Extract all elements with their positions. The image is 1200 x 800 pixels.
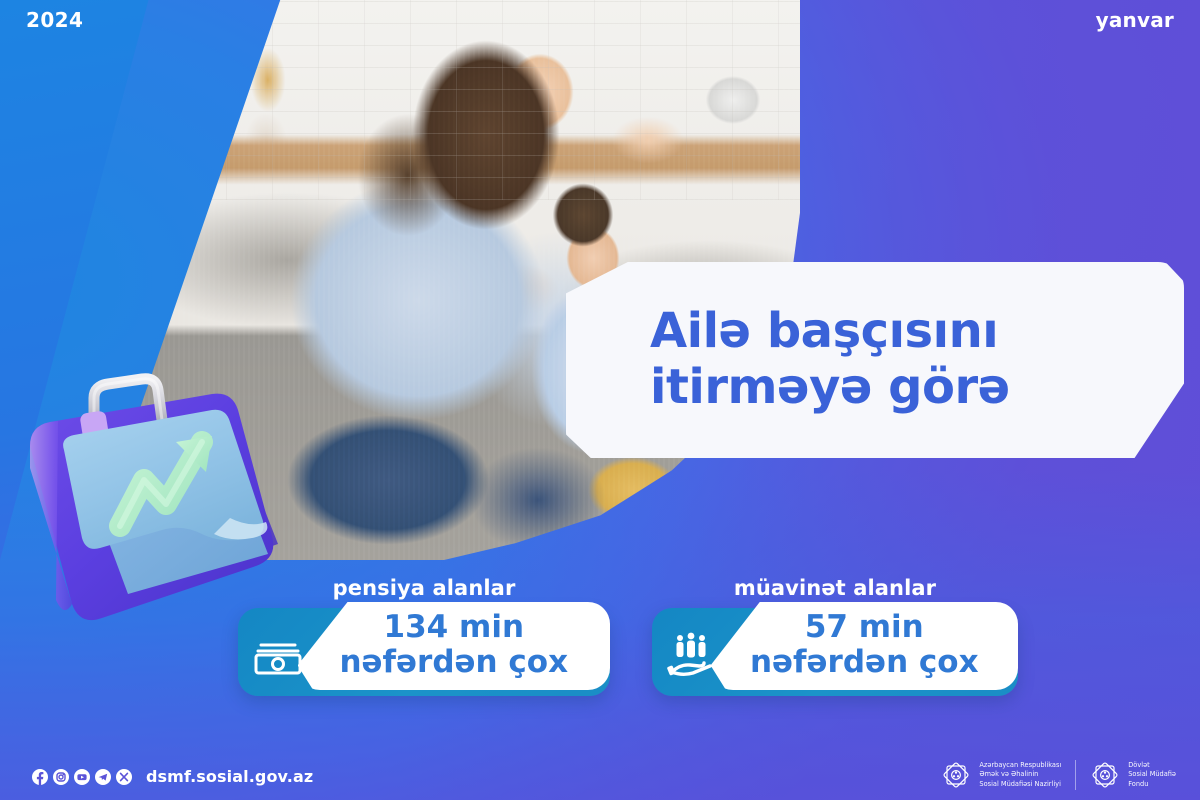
logo-divider bbox=[1075, 760, 1076, 790]
social-links: dsmf.sosial.gov.az bbox=[32, 767, 313, 786]
stat-value-panel: 57 min nəfərdən çox bbox=[711, 602, 1018, 690]
stat-value: 57 min bbox=[805, 612, 924, 643]
ministry-logo-text: Azərbaycan Respublikası Əmək və Əhalinin… bbox=[979, 761, 1061, 790]
hand-holding-family-icon bbox=[666, 630, 718, 678]
briefcase-growth-chart-3d-icon bbox=[16, 368, 298, 634]
stat-value-panel: 134 min nəfərdən çox bbox=[298, 602, 610, 690]
footer: dsmf.sosial.gov.az bbox=[0, 740, 1200, 800]
x-twitter-icon[interactable] bbox=[116, 769, 132, 785]
website-url[interactable]: dsmf.sosial.gov.az bbox=[146, 767, 313, 786]
headline-panel: Ailə başçısını itirməyə görə bbox=[566, 262, 1184, 458]
youtube-icon[interactable] bbox=[74, 769, 90, 785]
year-label: 2024 bbox=[26, 8, 83, 32]
dsmf-logo: Dövlət Sosial Müdafiə Fondu bbox=[1090, 760, 1176, 790]
stat-value: 134 min bbox=[384, 612, 525, 643]
organization-logos: Azərbaycan Respublikası Əmək və Əhalinin… bbox=[941, 760, 1176, 790]
page-title: Ailə başçısını itirməyə görə bbox=[566, 304, 1010, 415]
ministry-logo: Azərbaycan Respublikası Əmək və Əhalinin… bbox=[941, 760, 1061, 790]
telegram-icon[interactable] bbox=[95, 769, 111, 785]
stat-card-allowances: müavinət alanlar bbox=[652, 576, 1018, 696]
stat-suffix: nəfərdən çox bbox=[339, 645, 568, 681]
dsmf-logo-text: Dövlət Sosial Müdafiə Fondu bbox=[1128, 761, 1176, 790]
infographic-poster: 2024 yanvar Ailə başçısını itirməyə görə bbox=[0, 0, 1200, 800]
ministry-emblem-icon bbox=[941, 760, 971, 790]
stat-label: müavinət alanlar bbox=[652, 576, 1018, 600]
instagram-icon[interactable] bbox=[53, 769, 69, 785]
stat-suffix: nəfərdən çox bbox=[750, 645, 979, 681]
dsmf-emblem-icon bbox=[1090, 760, 1120, 790]
facebook-icon[interactable] bbox=[32, 769, 48, 785]
month-label: yanvar bbox=[1096, 8, 1174, 32]
banknote-icon bbox=[252, 630, 304, 678]
